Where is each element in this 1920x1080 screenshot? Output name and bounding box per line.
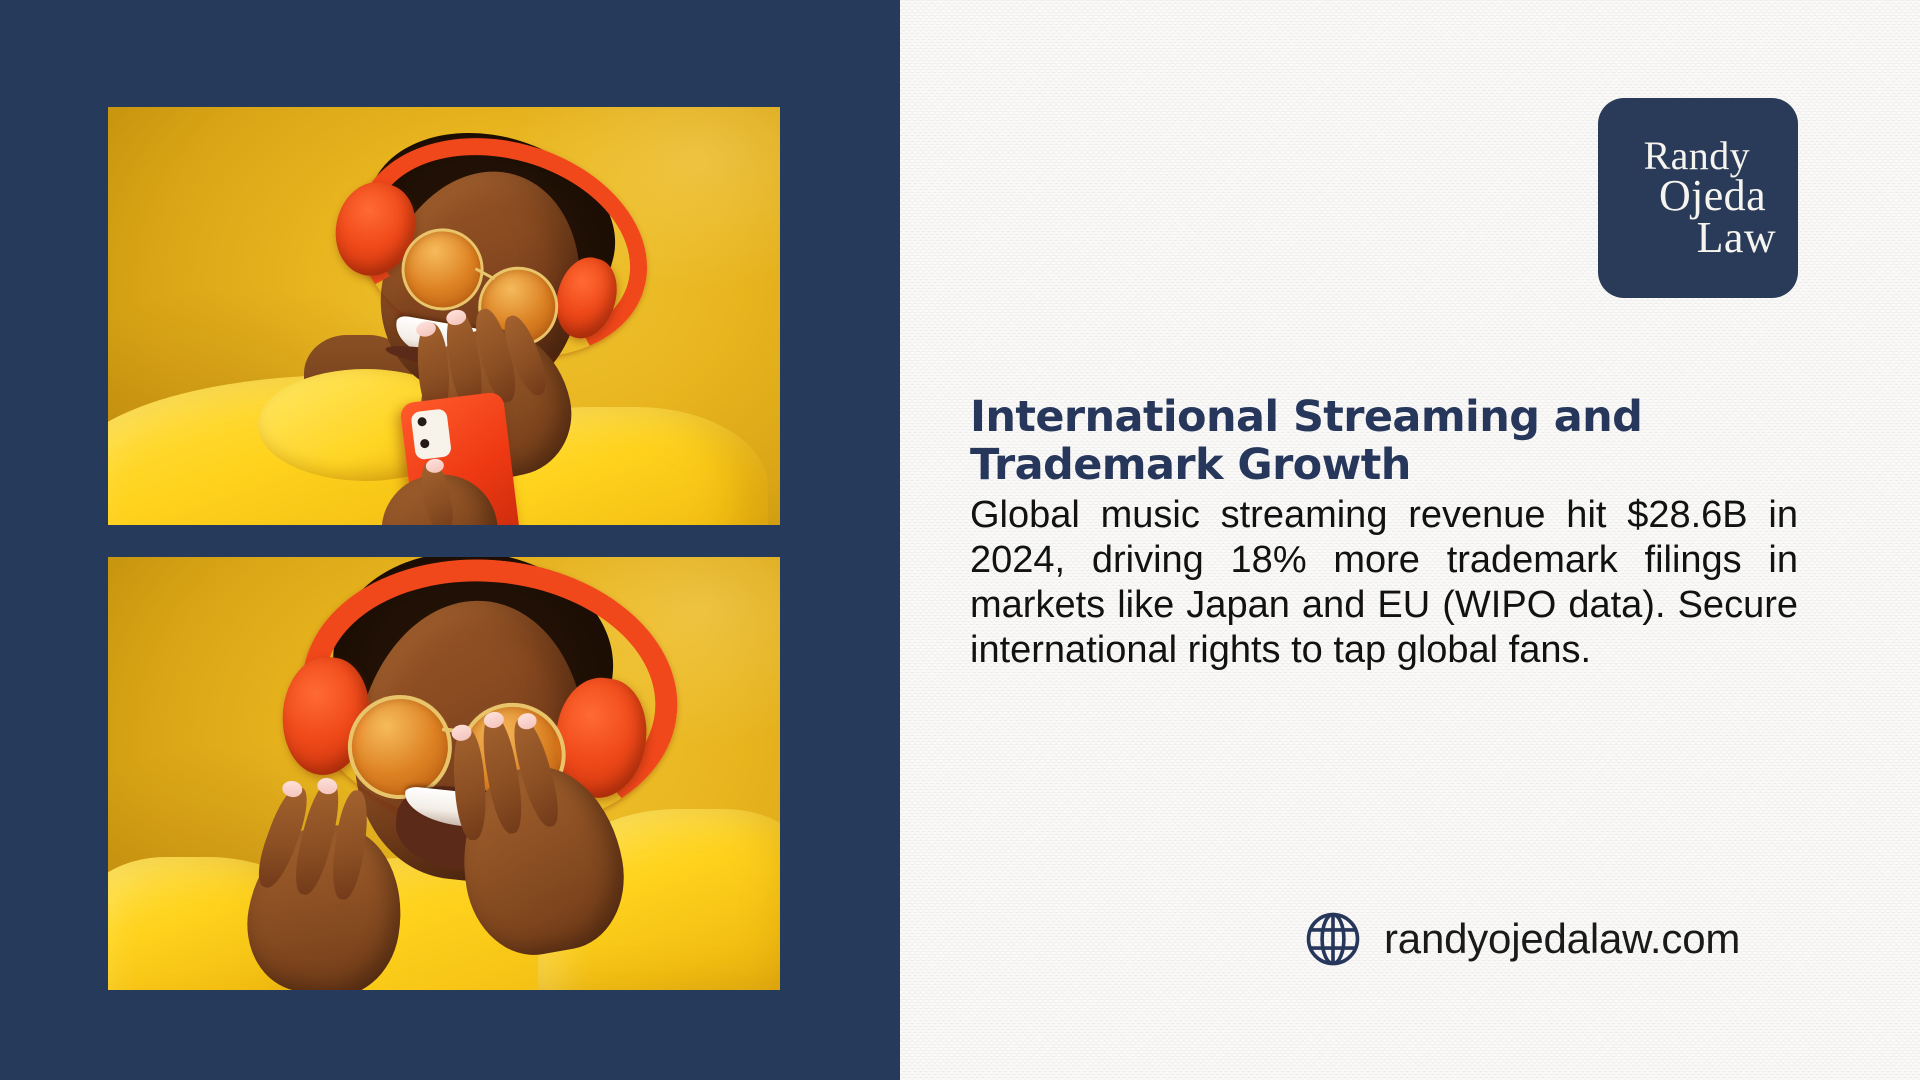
photo-top-phone-camera [410,408,452,460]
photo-bottom-hand-right [418,692,658,973]
logo-line-ojeda: Ojeda [1659,175,1766,217]
body-paragraph: Global music streaming revenue hit $28.6… [970,493,1798,672]
photo-bottom-hand-left [228,762,453,990]
logo-line-randy: Randy [1644,137,1750,175]
page-title: International Streaming and Trademark Gr… [970,393,1798,489]
brand-logo[interactable]: Randy Ojeda Law [1598,98,1798,298]
right-content-panel: Randy Ojeda Law International Streaming … [900,0,1920,1080]
photo-top [108,107,780,525]
website-url[interactable]: randyojedalaw.com [1384,915,1740,963]
website-row[interactable]: randyojedalaw.com [1304,910,1740,968]
photo-bottom [108,557,780,990]
left-image-panel [0,0,900,1080]
text-block: International Streaming and Trademark Gr… [970,393,1798,673]
social-post-canvas: Randy Ojeda Law International Streaming … [0,0,1920,1080]
globe-icon [1304,910,1362,968]
logo-line-law: Law [1697,217,1776,259]
